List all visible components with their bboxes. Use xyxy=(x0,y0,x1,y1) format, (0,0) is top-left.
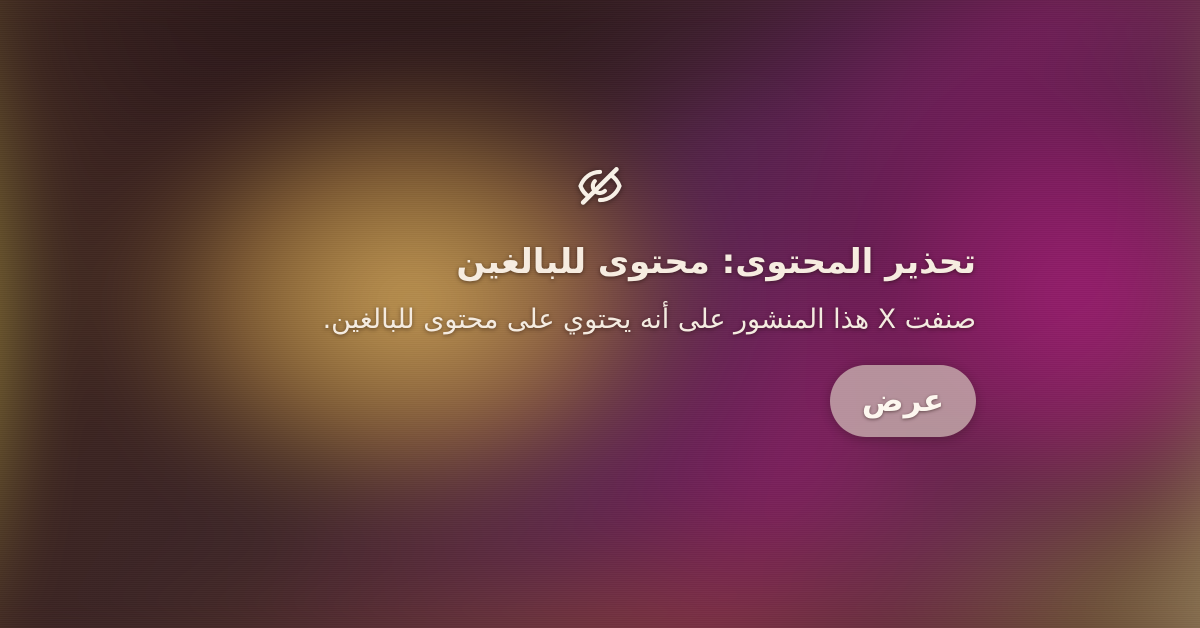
content-warning-screen: تحذير المحتوى: محتوى للبالغين صنفت X هذا… xyxy=(0,0,1200,628)
content-warning-overlay: تحذير المحتوى: محتوى للبالغين صنفت X هذا… xyxy=(0,0,1200,628)
view-content-button[interactable]: عرض xyxy=(830,365,976,437)
content-warning-description: صنفت X هذا المنشور على أنه يحتوي على محت… xyxy=(224,302,976,338)
warning-action-row: عرض xyxy=(224,365,976,437)
content-warning-title: تحذير المحتوى: محتوى للبالغين xyxy=(224,240,976,284)
eye-off-icon xyxy=(574,160,626,212)
warning-text-block: تحذير المحتوى: محتوى للبالغين صنفت X هذا… xyxy=(224,240,976,339)
